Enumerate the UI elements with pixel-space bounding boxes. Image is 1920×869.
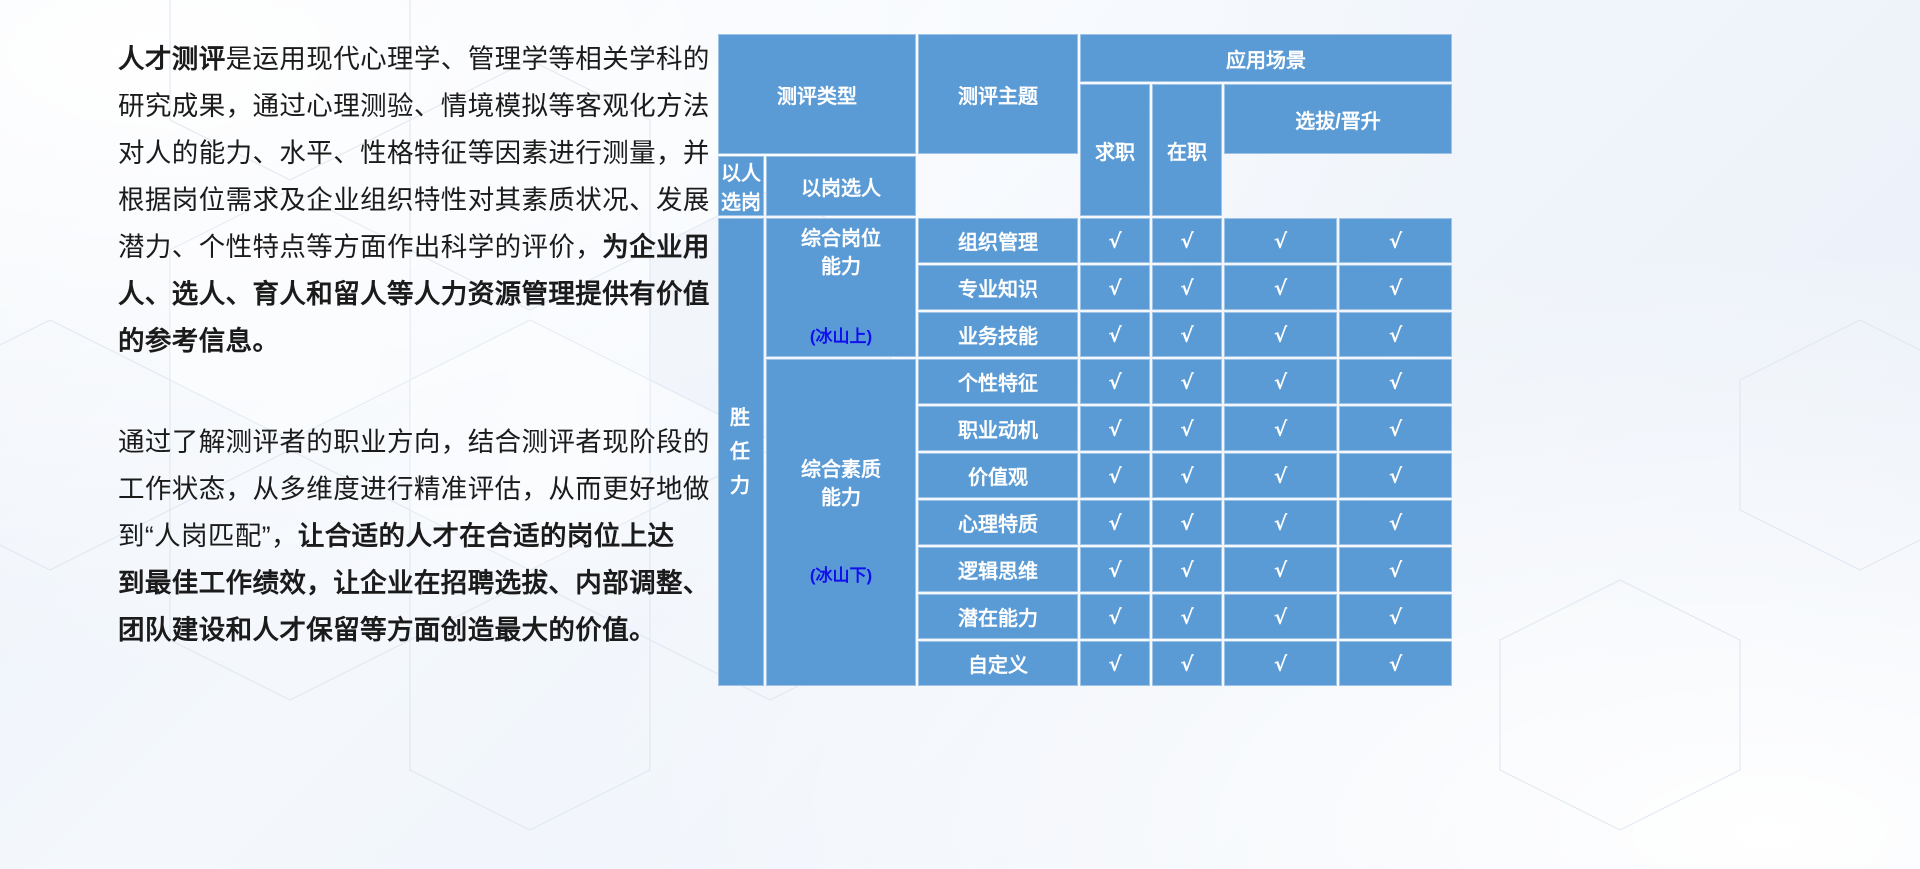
header-person-to-post: 以人选岗 (718, 156, 764, 216)
check-post-to-person: √ (1339, 218, 1452, 263)
paragraph-line: 人才测评是运用现代心理学、管理学等相关学科的 (118, 36, 674, 83)
paragraph-text: 工作状态，从多维度进行精准评估，从而更好地做 (118, 474, 710, 504)
paragraph-line: 到“人岗匹配”，让合适的人才在合适的岗位上达 (118, 513, 674, 560)
check-post-to-person: √ (1339, 265, 1452, 310)
check-person-to-post: √ (1224, 641, 1337, 686)
paragraph-line: 人、选人、育人和留人等人力资源管理提供有价值 (118, 271, 674, 318)
group-label-quality-competency: 综合素质 能力 (冰山下) (766, 359, 916, 686)
topic-label: 心理特质 (918, 500, 1078, 545)
check-on-the-job: √ (1152, 359, 1222, 404)
check-job-seeking: √ (1080, 641, 1150, 686)
check-job-seeking: √ (1080, 594, 1150, 639)
check-person-to-post: √ (1224, 547, 1337, 592)
header-selection-promotion: 选拔/晋升 (1224, 84, 1452, 154)
check-on-the-job: √ (1152, 218, 1222, 263)
paragraph-text: 研究成果，通过心理测验、情境模拟等客观化方法 (118, 91, 710, 121)
assessment-matrix-table-wrapper: 测评类型 测评主题 应用场景 求职 在职 选拔/晋升 以人选岗 以岗选人 (716, 32, 1444, 688)
check-post-to-person: √ (1339, 453, 1452, 498)
table-header-row-1: 测评类型 测评主题 应用场景 (718, 34, 1452, 82)
check-job-seeking: √ (1080, 265, 1150, 310)
paragraph-text: 到“人岗匹配”， (118, 521, 298, 551)
paragraph-text-emphasis: 的参考信息。 (118, 326, 279, 356)
topic-label: 职业动机 (918, 406, 1078, 451)
check-person-to-post: √ (1224, 453, 1337, 498)
check-post-to-person: √ (1339, 641, 1452, 686)
check-person-to-post: √ (1224, 406, 1337, 451)
assessment-matrix-table: 测评类型 测评主题 应用场景 求职 在职 选拔/晋升 以人选岗 以岗选人 (716, 32, 1454, 688)
paragraph-text-emphasis: 为企业用 (602, 232, 710, 262)
check-job-seeking: √ (1080, 453, 1150, 498)
topic-label: 潜在能力 (918, 594, 1078, 639)
paragraph-line: 对人的能力、水平、性格特征等因素进行测量，并 (118, 130, 674, 177)
paragraph-text-emphasis: 人、选人、育人和留人等人力资源管理提供有价值 (118, 279, 710, 309)
slide-canvas: 人才测评是运用现代心理学、管理学等相关学科的 研究成果，通过心理测验、情境模拟等… (0, 0, 1920, 869)
check-on-the-job: √ (1152, 265, 1222, 310)
row-group-label-char: 力 (719, 469, 763, 503)
check-person-to-post: √ (1224, 359, 1337, 404)
row-group-label-char: 任 (719, 435, 763, 469)
check-post-to-person: √ (1339, 594, 1452, 639)
paragraph-text-emphasis: 团队建设和人才保留等方面创造最大的价值。 (118, 615, 656, 645)
topic-label: 业务技能 (918, 312, 1078, 357)
paragraph-line: 根据岗位需求及企业组织特性对其素质状况、发展 (118, 177, 674, 224)
check-job-seeking: √ (1080, 547, 1150, 592)
group-name-line: 能力 (821, 256, 861, 278)
paragraph-text-emphasis: 让合适的人才在合适的岗位上达 (298, 521, 675, 551)
topic-label: 价值观 (918, 453, 1078, 498)
group-note-above-iceberg: (冰山上) (767, 323, 915, 351)
paragraph-line: 的参考信息。 (118, 318, 674, 365)
header-job-seeking: 求职 (1080, 84, 1150, 216)
check-job-seeking: √ (1080, 359, 1150, 404)
check-job-seeking: √ (1080, 218, 1150, 263)
header-post-to-person: 以岗选人 (766, 156, 916, 216)
check-person-to-post: √ (1224, 500, 1337, 545)
paragraph-text-emphasis: 到最佳工作绩效，让企业在招聘选拔、内部调整、 (118, 568, 710, 598)
description-text-column: 人才测评是运用现代心理学、管理学等相关学科的 研究成果，通过心理测验、情境模拟等… (118, 36, 674, 654)
check-on-the-job: √ (1152, 594, 1222, 639)
check-job-seeking: √ (1080, 500, 1150, 545)
paragraph-text: 潜力、个性特点等方面作出科学的评价， (118, 232, 602, 262)
paragraph-text: 是运用现代心理学、管理学等相关学科的 (226, 44, 710, 74)
header-assessment-type: 测评类型 (718, 34, 916, 154)
topic-label: 个性特征 (918, 359, 1078, 404)
row-group-competency-label: 胜 任 力 (718, 218, 764, 686)
check-post-to-person: √ (1339, 312, 1452, 357)
paragraph-2: 通过了解测评者的职业方向，结合测评者现阶段的 工作状态，从多维度进行精准评估，从… (118, 419, 674, 654)
check-on-the-job: √ (1152, 312, 1222, 357)
check-on-the-job: √ (1152, 406, 1222, 451)
topic-label: 自定义 (918, 641, 1078, 686)
group-name-line: 能力 (821, 487, 861, 509)
check-on-the-job: √ (1152, 453, 1222, 498)
check-post-to-person: √ (1339, 547, 1452, 592)
check-post-to-person: √ (1339, 500, 1452, 545)
table-row: 综合素质 能力 (冰山下) 个性特征 √ √ √ √ (718, 359, 1452, 404)
header-application-scenario: 应用场景 (1080, 34, 1452, 82)
check-person-to-post: √ (1224, 312, 1337, 357)
paragraph-line: 工作状态，从多维度进行精准评估，从而更好地做 (118, 466, 674, 513)
check-job-seeking: √ (1080, 406, 1150, 451)
check-person-to-post: √ (1224, 265, 1337, 310)
paragraph-text: 根据岗位需求及企业组织特性对其素质状况、发展 (118, 185, 710, 215)
paragraph-line: 团队建设和人才保留等方面创造最大的价值。 (118, 607, 674, 654)
paragraph-text: 通过了解测评者的职业方向，结合测评者现阶段的 (118, 427, 710, 457)
check-on-the-job: √ (1152, 500, 1222, 545)
topic-label: 专业知识 (918, 265, 1078, 310)
paragraph-line: 到最佳工作绩效，让企业在招聘选拔、内部调整、 (118, 560, 674, 607)
paragraph-text: 对人的能力、水平、性格特征等因素进行测量，并 (118, 138, 710, 168)
row-group-label-char: 胜 (719, 401, 763, 435)
header-assessment-topic: 测评主题 (918, 34, 1078, 154)
check-person-to-post: √ (1224, 218, 1337, 263)
paragraph-line: 通过了解测评者的职业方向，结合测评者现阶段的 (118, 419, 674, 466)
check-on-the-job: √ (1152, 547, 1222, 592)
table-row: 胜 任 力 综合岗位 能力 (冰山上) 组织管理 √ √ √ √ (718, 218, 1452, 263)
paragraph-line: 研究成果，通过心理测验、情境模拟等客观化方法 (118, 83, 674, 130)
check-job-seeking: √ (1080, 312, 1150, 357)
term-talent-assessment: 人才测评 (118, 44, 226, 74)
check-on-the-job: √ (1152, 641, 1222, 686)
group-name-line: 综合素质 (801, 459, 881, 481)
group-note-below-iceberg: (冰山下) (767, 562, 915, 590)
paragraph-line: 潜力、个性特点等方面作出科学的评价，为企业用 (118, 224, 674, 271)
check-person-to-post: √ (1224, 594, 1337, 639)
group-name-line: 综合岗位 (801, 228, 881, 250)
topic-label: 组织管理 (918, 218, 1078, 263)
group-label-job-competency: 综合岗位 能力 (冰山上) (766, 218, 916, 357)
check-post-to-person: √ (1339, 359, 1452, 404)
check-post-to-person: √ (1339, 406, 1452, 451)
paragraph-1: 人才测评是运用现代心理学、管理学等相关学科的 研究成果，通过心理测验、情境模拟等… (118, 36, 674, 365)
topic-label: 逻辑思维 (918, 547, 1078, 592)
header-on-the-job: 在职 (1152, 84, 1222, 216)
